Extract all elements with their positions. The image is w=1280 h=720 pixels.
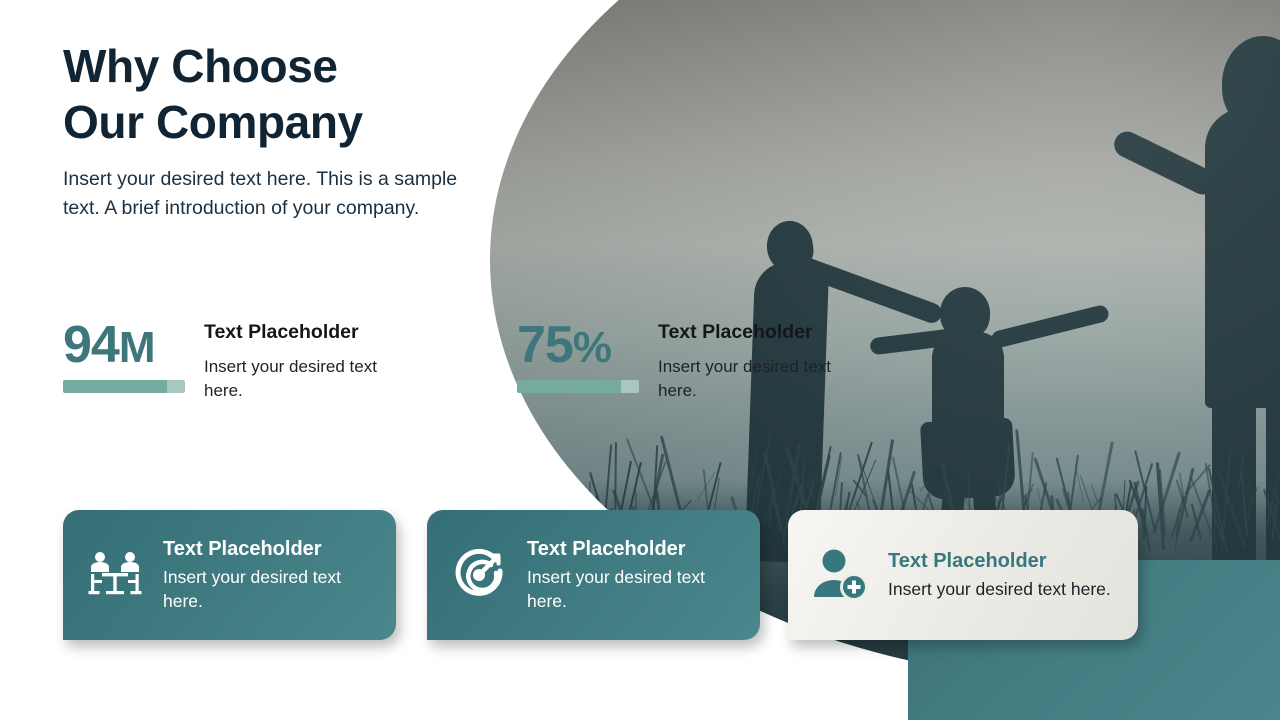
stat-progress-track [517,380,639,393]
stat-number: 75 [517,316,573,374]
stat-body: Text Placeholder Insert your desired tex… [204,318,394,404]
stat-body: Text Placeholder Insert your desired tex… [658,318,848,404]
stat-progress-fill [517,380,621,393]
feature-card-title: Text Placeholder [163,537,378,562]
stat-value: 94M [63,318,188,372]
add-person-icon [808,549,872,601]
stat-description: Insert your desired text here. [204,355,394,403]
feature-card-3[interactable]: Text Placeholder Insert your desired tex… [788,510,1138,640]
intro-paragraph: Insert your desired text here. This is a… [63,165,473,224]
page-title-line-1: Why Choose [63,38,483,94]
stat-description: Insert your desired text here. [658,355,848,403]
stat-title: Text Placeholder [204,318,364,346]
page-title: Why Choose Our Company [63,38,483,150]
stat-unit: M [119,323,155,372]
stat-unit: % [573,323,611,372]
stat-figure: 94M [63,318,188,404]
feature-card-text: Text Placeholder Insert your desired tex… [888,549,1120,601]
feature-card-description: Insert your desired text here. [527,566,742,613]
feature-card-text: Text Placeholder Insert your desired tex… [163,537,378,613]
meeting-people-table-icon [83,551,147,599]
feature-card-description: Insert your desired text here. [163,566,378,613]
stat-title: Text Placeholder [658,318,818,346]
stat-item: 75% Text Placeholder Insert your desired… [517,318,848,404]
stat-item: 94M Text Placeholder Insert your desired… [63,318,394,404]
stat-progress-track [63,380,185,393]
stat-figure: 75% [517,318,642,404]
stat-progress-fill [63,380,167,393]
slide-canvas: Why Choose Our Company Insert your desir… [0,0,1280,720]
feature-card-title: Text Placeholder [527,537,742,562]
target-arrow-icon [447,548,511,602]
feature-card-1[interactable]: Text Placeholder Insert your desired tex… [63,510,396,640]
feature-card-2[interactable]: Text Placeholder Insert your desired tex… [427,510,760,640]
page-title-line-2: Our Company [63,94,483,150]
feature-card-description: Insert your desired text here. [888,578,1120,601]
stat-value: 75% [517,318,642,372]
stat-number: 94 [63,316,119,374]
feature-card-title: Text Placeholder [888,549,1120,574]
feature-card-text: Text Placeholder Insert your desired tex… [527,537,742,613]
stats-group: 94M Text Placeholder Insert your desired… [63,318,848,404]
